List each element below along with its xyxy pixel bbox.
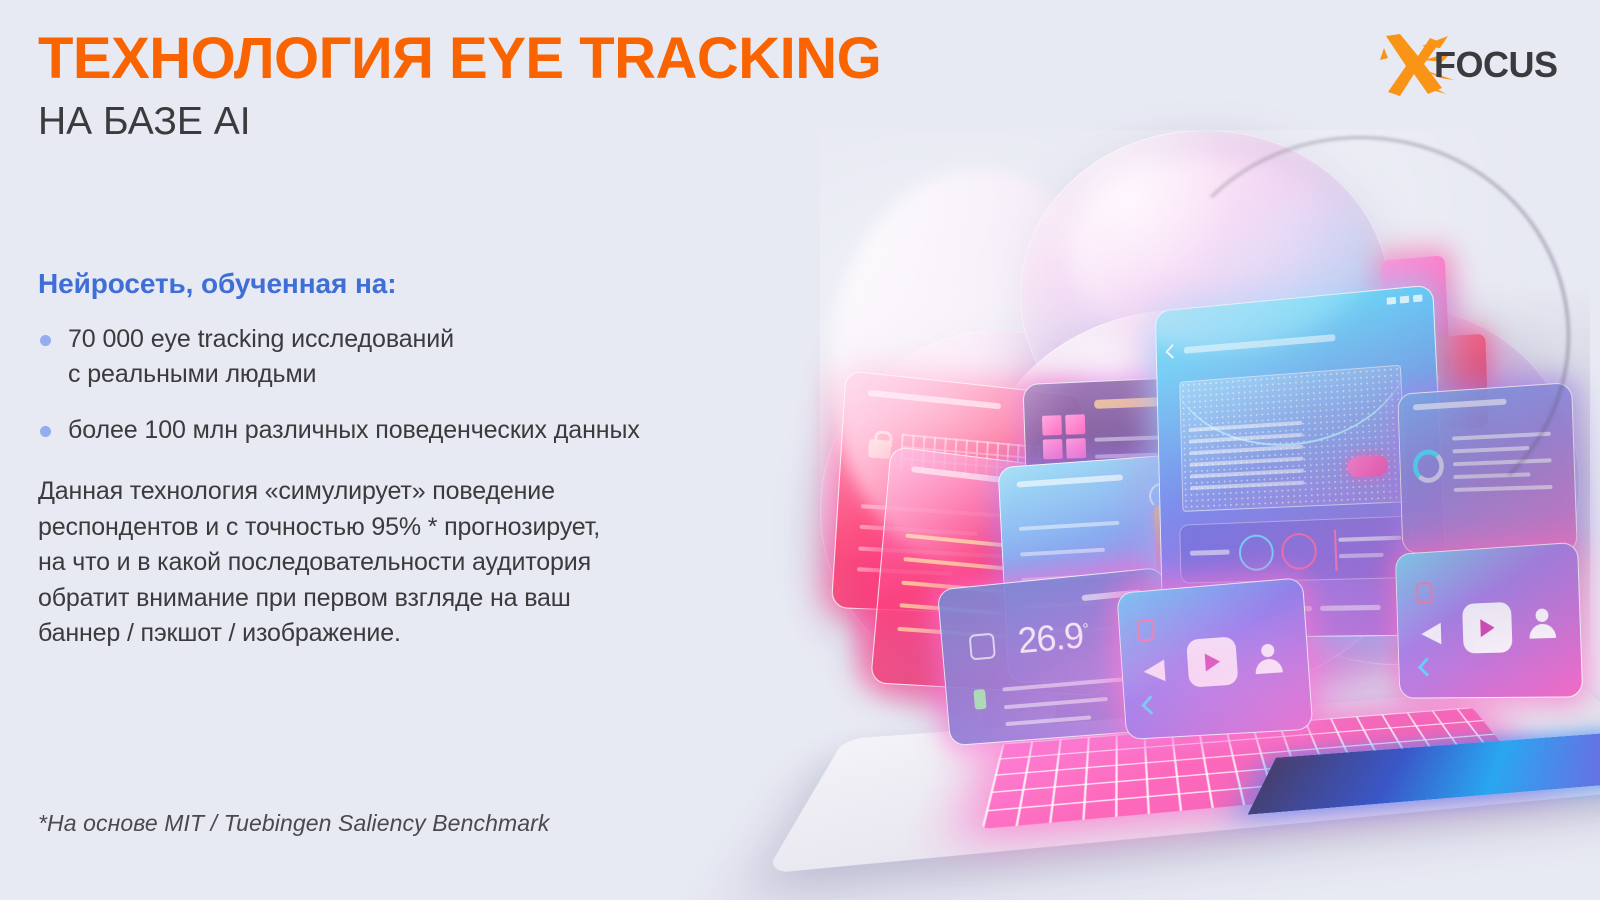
back-arrow-icon[interactable] [1418,658,1436,677]
grid-tiles-icon [1042,414,1086,459]
lock-icon [868,439,891,459]
slide-root: ТЕХНОЛОГИЯ EYE TRACKING НА БАЗЕ AI FOCUS… [0,0,1600,900]
card-header-bar [868,390,1001,409]
card-line [1004,697,1108,709]
glass-cloud: 26.9° [820,130,1590,750]
page-subtitle: НА БАЗЕ AI [38,102,251,143]
temperature-number: 26.9 [1016,614,1085,661]
gauge-bar [1338,536,1401,542]
list-item: 70 000 eye tracking исследований с реаль… [38,322,758,391]
brand-logo: FOCUS [1378,28,1558,102]
card-line [1020,548,1105,557]
gauge-bar [1339,553,1384,558]
body-paragraph: Данная технология «симулирует» поведение… [38,474,738,652]
hero-illustration: 26.9° [800,120,1600,900]
battery-icon [973,689,986,710]
gauge-label [1190,550,1230,556]
page-title: ТЕХНОЛОГИЯ EYE TRACKING [38,30,881,88]
badge-icon [1416,582,1433,604]
lead-heading: Нейросеть, обученная на: [38,268,396,300]
bullet-dot-icon [40,335,51,346]
cloud-dark-rim [1150,136,1570,536]
logo-svg: FOCUS [1378,30,1558,100]
play-icon[interactable] [1462,602,1513,654]
card-header-bar [1016,475,1123,488]
gauge-divider [1334,530,1338,571]
play-icon[interactable] [1186,636,1238,687]
bullet-list: 70 000 eye tracking исследований с реаль… [38,322,758,470]
bullet-dot-icon [40,426,51,437]
bullet-text: более 100 млн различных поведенческих да… [68,416,640,444]
temperature-value: 26.9° [1016,614,1090,662]
gauge-ring-pink [1281,532,1318,570]
logo-text: FOCUS [1434,44,1558,85]
card-line [1019,521,1120,531]
media-card-right[interactable] [1395,542,1583,699]
person-icon[interactable] [1254,643,1283,675]
bullet-text: 70 000 eye tracking исследований с реаль… [68,325,454,388]
media-card[interactable] [1116,577,1313,740]
back-arrow-icon[interactable] [1141,695,1160,715]
footnote: *На основе MIT / Tuebingen Saliency Benc… [38,810,549,837]
square-outline-icon [969,633,996,661]
speaker-icon[interactable] [1421,623,1441,645]
speaker-icon[interactable] [1143,660,1166,683]
gauge-ring-cyan [1239,534,1275,571]
degree-symbol: ° [1082,621,1089,639]
card-line [1005,715,1091,726]
person-icon[interactable] [1529,608,1557,640]
list-item: более 100 млн различных поведенческих да… [38,413,758,448]
badge-icon [1136,619,1155,642]
